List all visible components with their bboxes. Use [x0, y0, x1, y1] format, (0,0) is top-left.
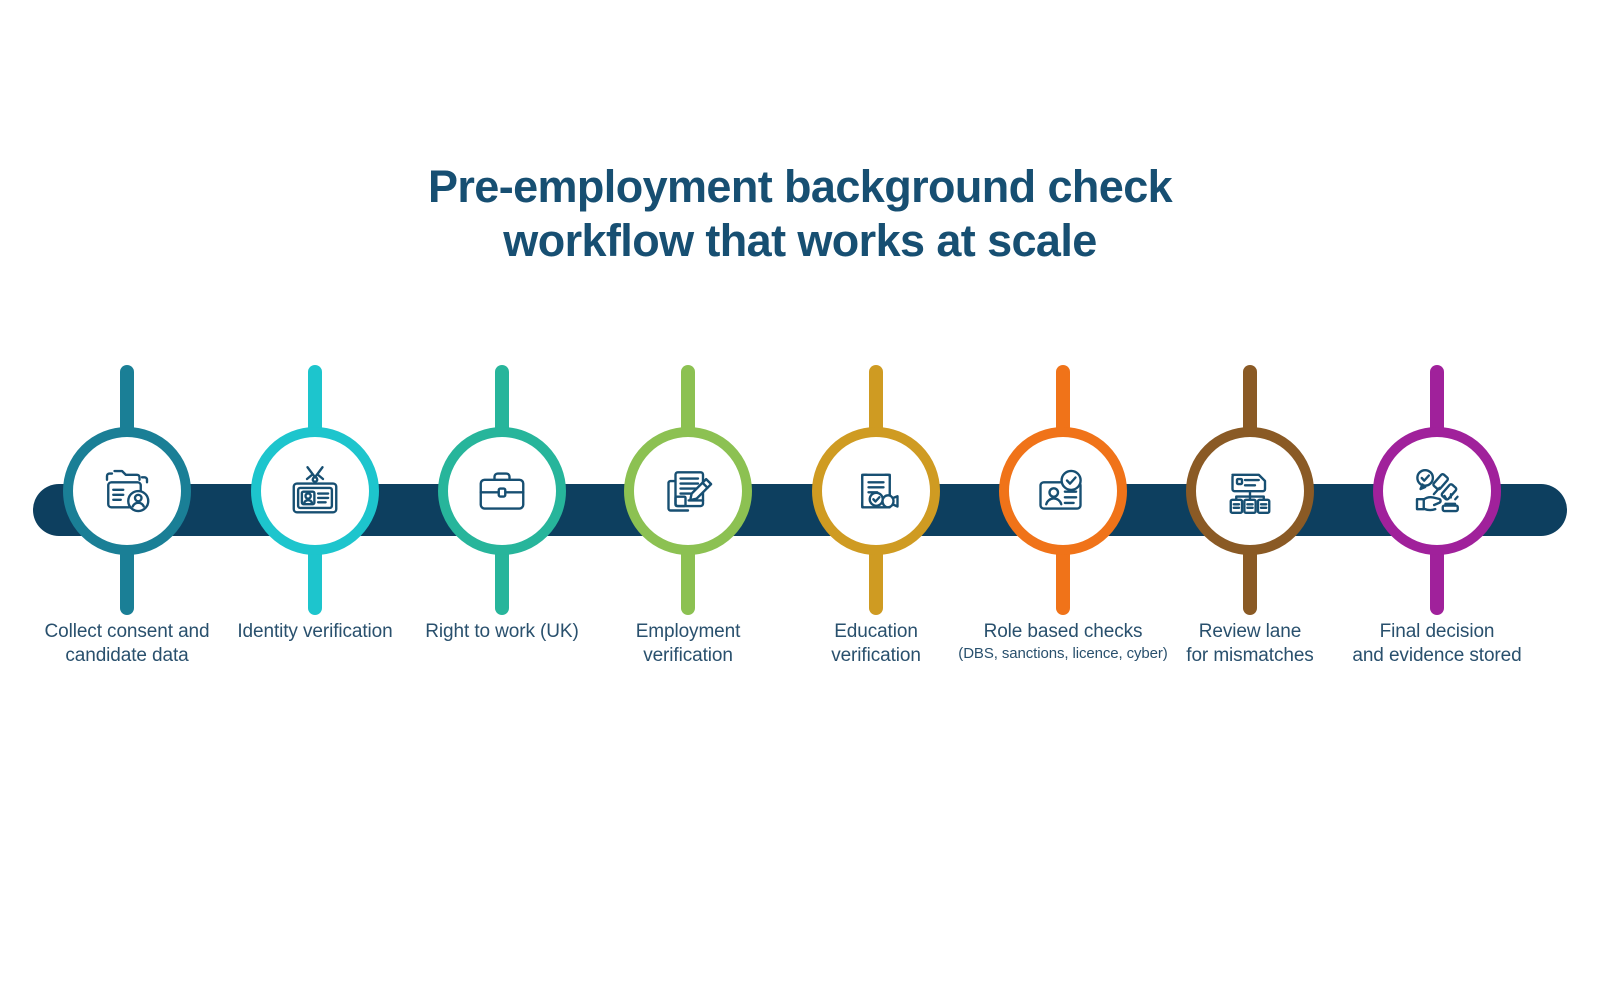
- certificate-seal-icon: [846, 461, 906, 521]
- node-label-8: Final decisionand evidence stored: [1317, 620, 1557, 668]
- workflow-label-row: Collect consent andcandidate dataIdentit…: [0, 620, 1600, 710]
- node-label-line2-5: verification: [831, 645, 921, 666]
- node-label-line2-4: verification: [643, 645, 733, 666]
- node-label-line1-2: Identity verification: [237, 621, 392, 642]
- title-line-2: workflow that works at scale: [0, 214, 1600, 268]
- page-title: Pre-employment background check workflow…: [0, 160, 1600, 268]
- node-label-line2-7: for mismatches: [1186, 645, 1313, 666]
- node-circle-5[interactable]: [812, 427, 940, 555]
- node-label-line1-8: Final decision: [1380, 621, 1495, 642]
- gavel-approved-icon: [1407, 461, 1467, 521]
- node-circle-3[interactable]: [438, 427, 566, 555]
- infographic-canvas: Pre-employment background check workflow…: [0, 0, 1600, 986]
- node-label-line1-5: Education: [834, 621, 918, 642]
- briefcase-icon: [472, 461, 532, 521]
- node-label-line1-1: Collect consent and: [45, 621, 210, 642]
- folder-user-icon: [97, 461, 157, 521]
- node-label-line1-7: Review lane: [1199, 621, 1301, 642]
- node-label-line1-3: Right to work (UK): [425, 621, 578, 642]
- id-card-check-icon: [1033, 461, 1093, 521]
- node-label-line1-4: Employment: [636, 621, 741, 642]
- node-label-line2-8: and evidence stored: [1352, 645, 1521, 666]
- node-label-line1-6: Role based checks: [984, 621, 1143, 642]
- node-label-line2-1: candidate data: [65, 645, 188, 666]
- node-circle-6[interactable]: [999, 427, 1127, 555]
- node-circle-4[interactable]: [624, 427, 752, 555]
- document-hierarchy-icon: [1220, 461, 1280, 521]
- node-circle-1[interactable]: [63, 427, 191, 555]
- node-circle-7[interactable]: [1186, 427, 1314, 555]
- document-pencil-icon: [658, 461, 718, 521]
- node-circle-2[interactable]: [251, 427, 379, 555]
- id-badge-lanyard-icon: [285, 461, 345, 521]
- node-circle-8[interactable]: [1373, 427, 1501, 555]
- title-line-1: Pre-employment background check: [0, 160, 1600, 214]
